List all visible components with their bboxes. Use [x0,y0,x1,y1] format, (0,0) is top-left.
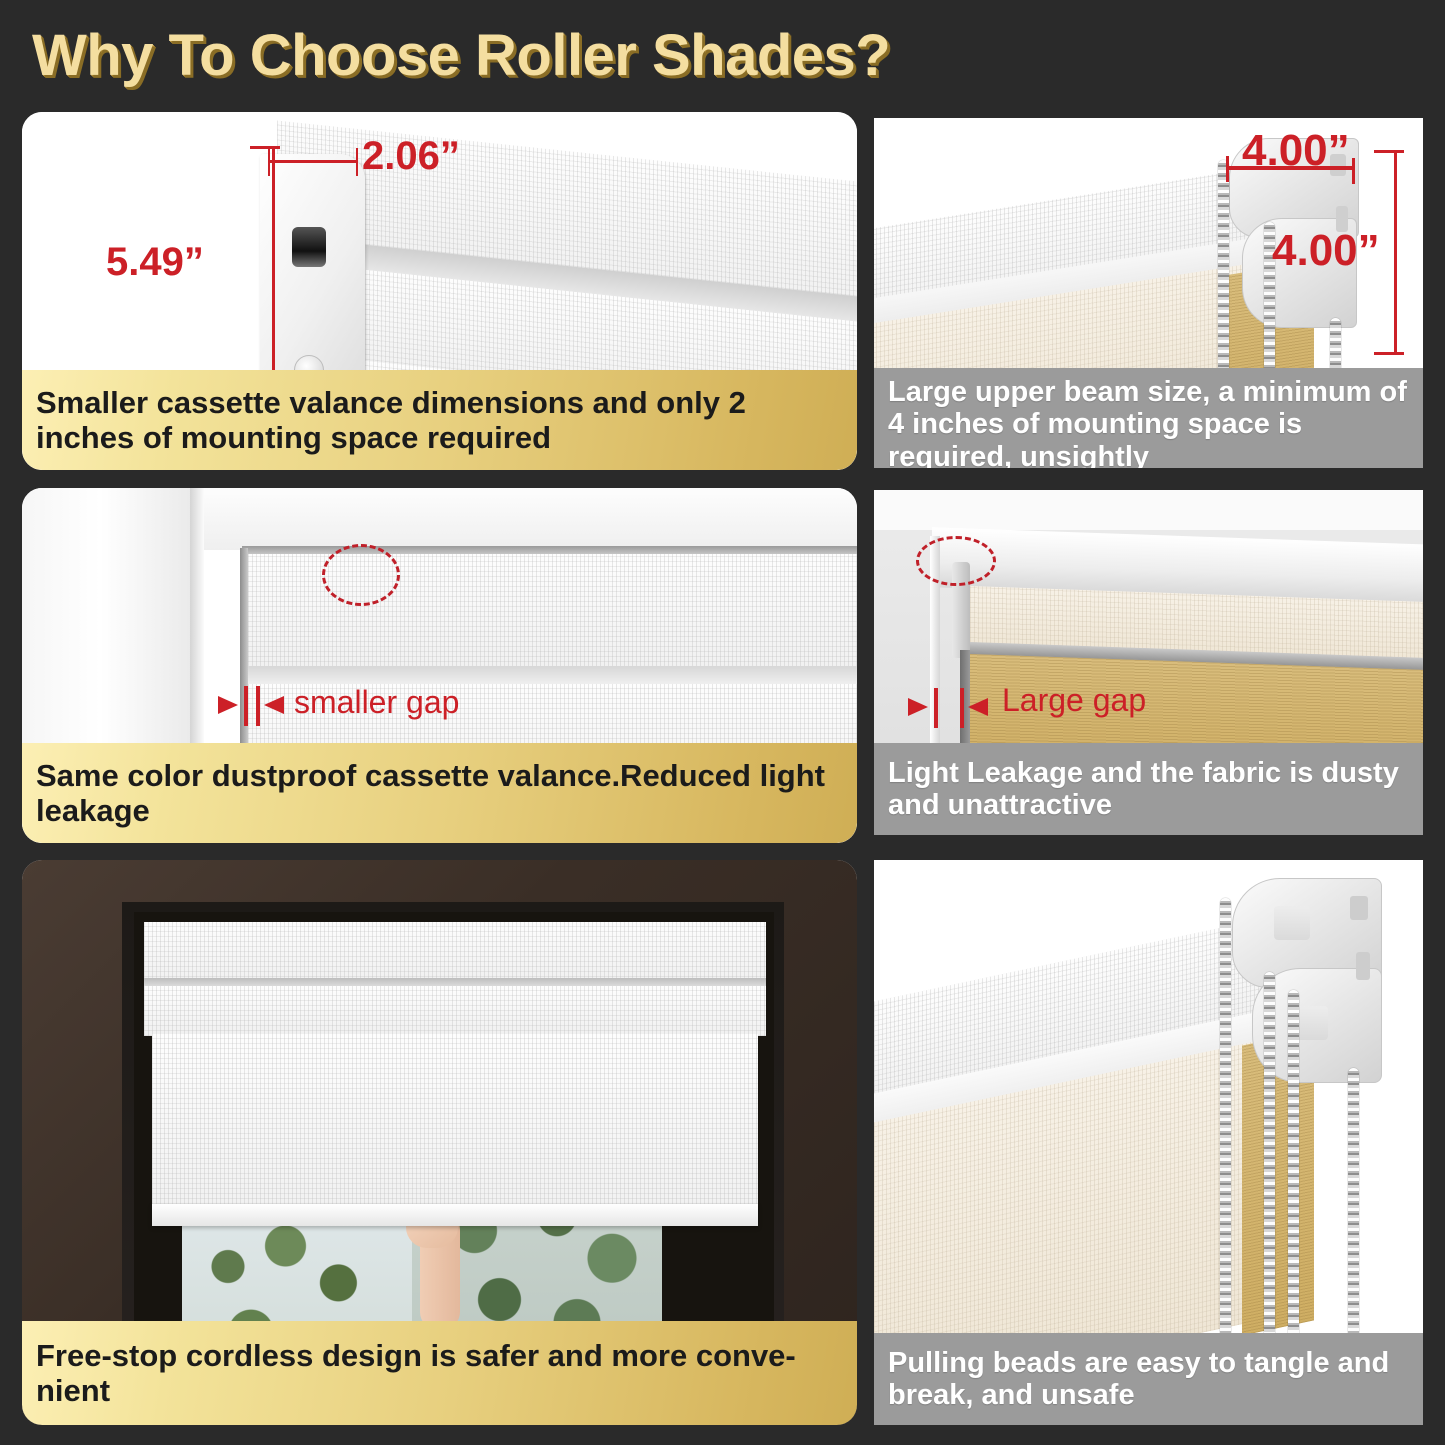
panel-caption: Large upper beam size, a minimum of 4 in… [874,368,1423,468]
panel-light-leakage: Large gap Light Leakage and the fabric i… [874,490,1423,835]
panel-cordless-design: Free-stop cordless design is safer and m… [22,860,857,1425]
panel-smaller-gap: smaller gap Same color dustproof cassett… [22,488,857,843]
gap-marker-bar-1 [244,686,248,726]
beam-height-tick-bottom [1374,352,1404,355]
panel-caption: Light Leakage and the fabric is dusty an… [874,743,1423,835]
shade-bottom-rail [152,1204,758,1226]
beam-height-label: 4.00” [1272,226,1380,276]
panel-pulling-beads: Pulling beads are easy to tangle and bre… [874,860,1423,1425]
bead-chain-middle [1264,972,1275,1340]
title-bar: Why To Choose Roller Shades? [0,0,1445,108]
gap-marker-bar-2 [960,688,964,728]
page-title: Why To Choose Roller Shades? [32,22,890,89]
panel-caption: Pulling beads are easy to tangle and bre… [874,1333,1423,1425]
gap-marker-bar-2 [256,686,260,726]
ceiling-strip [874,490,1423,530]
width-dim-line [268,160,358,163]
bracket-slot-2 [1356,952,1370,980]
gap-marker-bar-1 [934,688,938,728]
beam-width-label: 4.00” [1242,126,1350,176]
gap-arrow-left [264,696,284,714]
gap-arrow-right [218,696,238,714]
bead-chain-middle-2 [1288,990,1299,1340]
gap-callout-label: smaller gap [294,684,459,721]
gap-arrow-left [968,698,988,716]
width-dimension-label: 2.06” [362,134,460,179]
panel-caption: Smaller cassette valance dimensions and … [22,370,857,470]
window-frame-top [204,488,857,550]
gap-highlight-ellipse [322,544,400,606]
end-cap-slot [292,227,326,267]
valance-lower-roll [144,986,766,1036]
gap-arrow-right [908,698,928,716]
gap-callout-label: Large gap [1002,682,1146,719]
bracket-slot-1 [1350,896,1368,920]
beam-width-tick-right [1352,158,1355,184]
bead-chain-left [1220,898,1231,1338]
gap-highlight-ellipse [916,536,996,586]
height-dimension-label: 5.49” [106,240,204,285]
bead-chain-right [1348,1068,1359,1340]
height-dim-tick-top [250,146,280,149]
beam-height-tick-top [1374,150,1404,153]
bracket-arrow-emboss-1 [1274,906,1310,940]
panel-caption: Free-stop cordless design is safer and m… [22,1321,857,1425]
shade-fabric [152,1034,758,1219]
panel-caption: Same color dustproof cassette valance.Re… [22,743,857,843]
beam-height-line [1394,150,1397,355]
panel-cassette-dimensions: 2.06” 5.49” Smaller cassette valance dim… [22,112,857,470]
panel-large-upper-beam: 4.00” 4.00” Large upper beam size, a min… [874,118,1423,468]
valance-head [144,922,766,982]
